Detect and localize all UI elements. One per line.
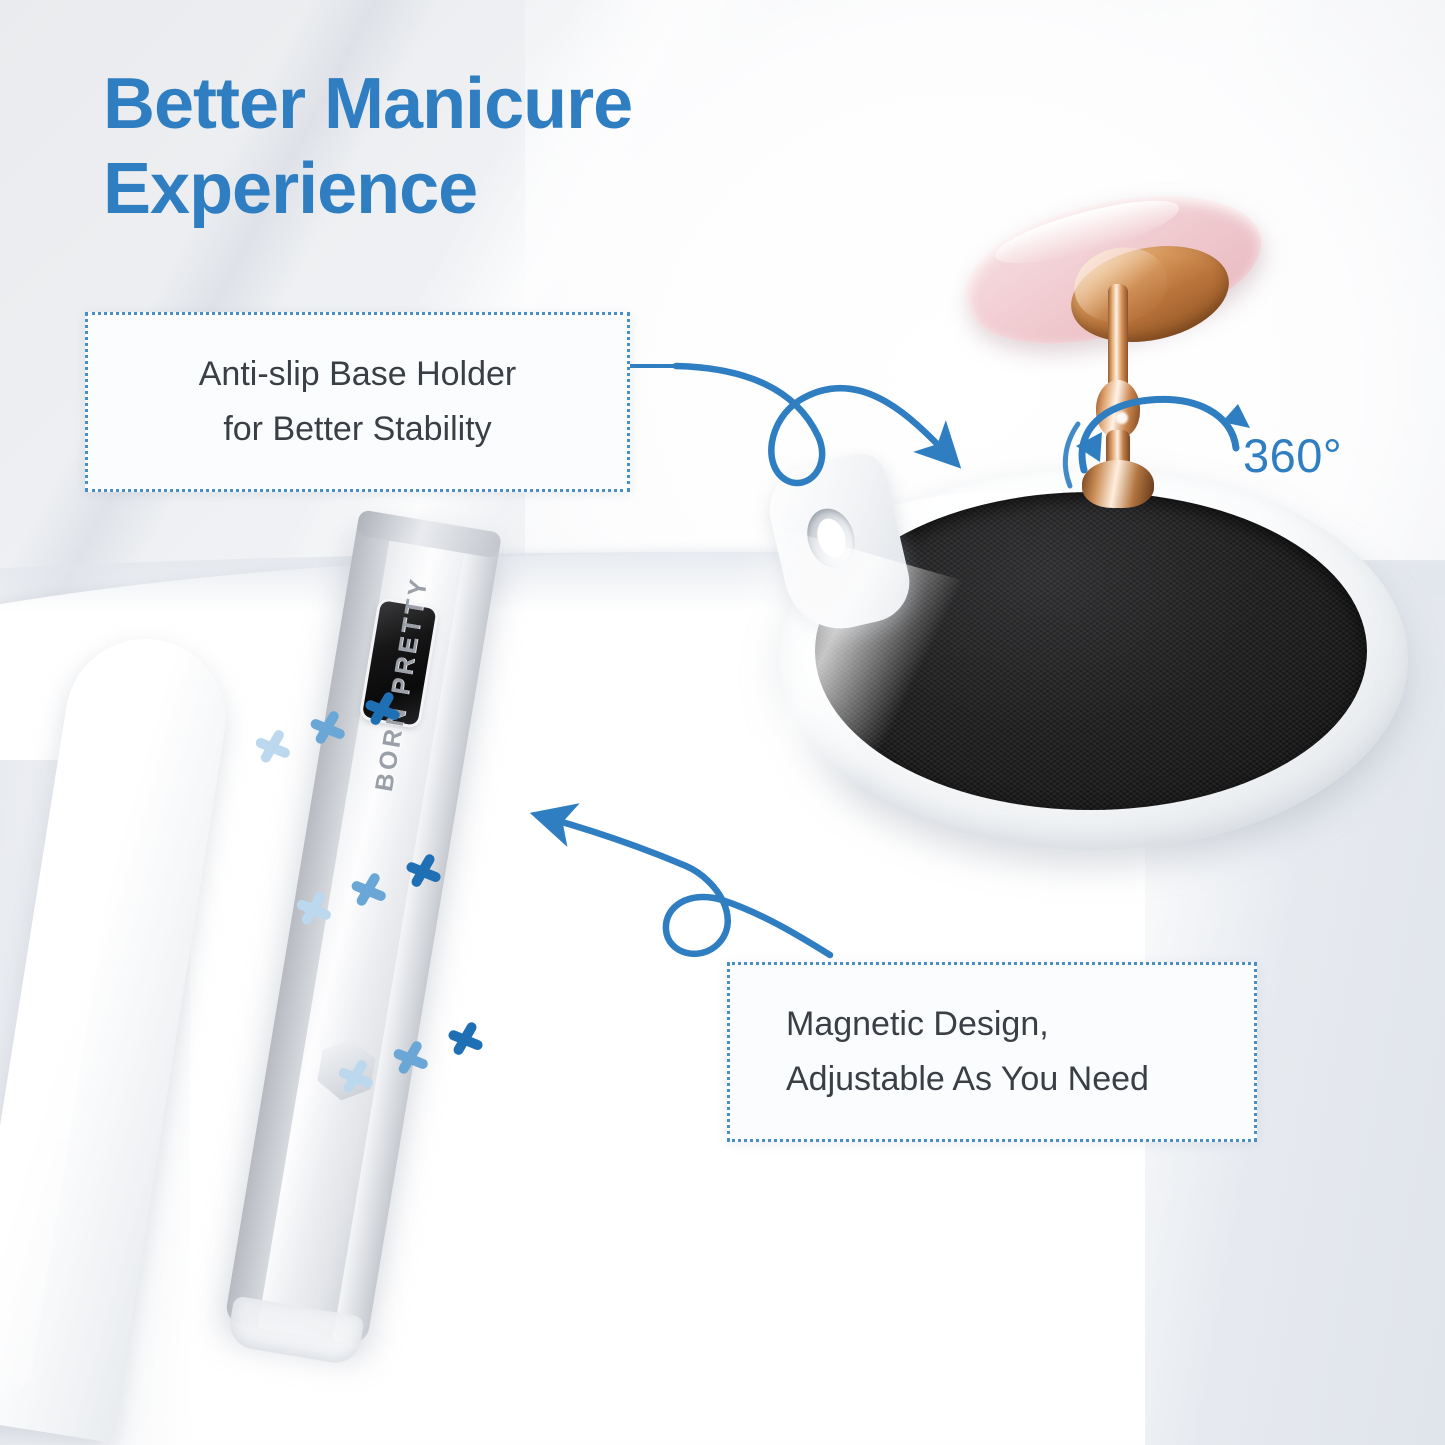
callout-connector-line	[628, 364, 676, 368]
headline-line-2: Experience	[103, 147, 883, 232]
callout-2-line-2: Adjustable As You Need	[786, 1052, 1149, 1107]
callout-1-line-2: for Better Stability	[223, 402, 491, 457]
page-title: Better Manicure Experience	[103, 62, 883, 232]
rotation-degree-label: 360°	[1243, 428, 1342, 483]
stem-rod	[1108, 284, 1128, 394]
headline-line-1: Better Manicure	[103, 62, 883, 147]
callout-2-line-1: Magnetic Design,	[786, 997, 1049, 1052]
stem-foot	[1082, 460, 1154, 508]
stem-specular-highlight	[1116, 412, 1128, 424]
product-infographic: Better Manicure Experience BORN PRETTY	[0, 0, 1445, 1445]
callout-magnetic-design[interactable]: Magnetic Design, Adjustable As You Need	[727, 962, 1257, 1142]
callout-anti-slip-base-holder[interactable]: Anti-slip Base Holder for Better Stabili…	[85, 312, 630, 492]
rose-gold-stem	[1090, 284, 1146, 510]
callout-1-line-1: Anti-slip Base Holder	[199, 347, 516, 402]
